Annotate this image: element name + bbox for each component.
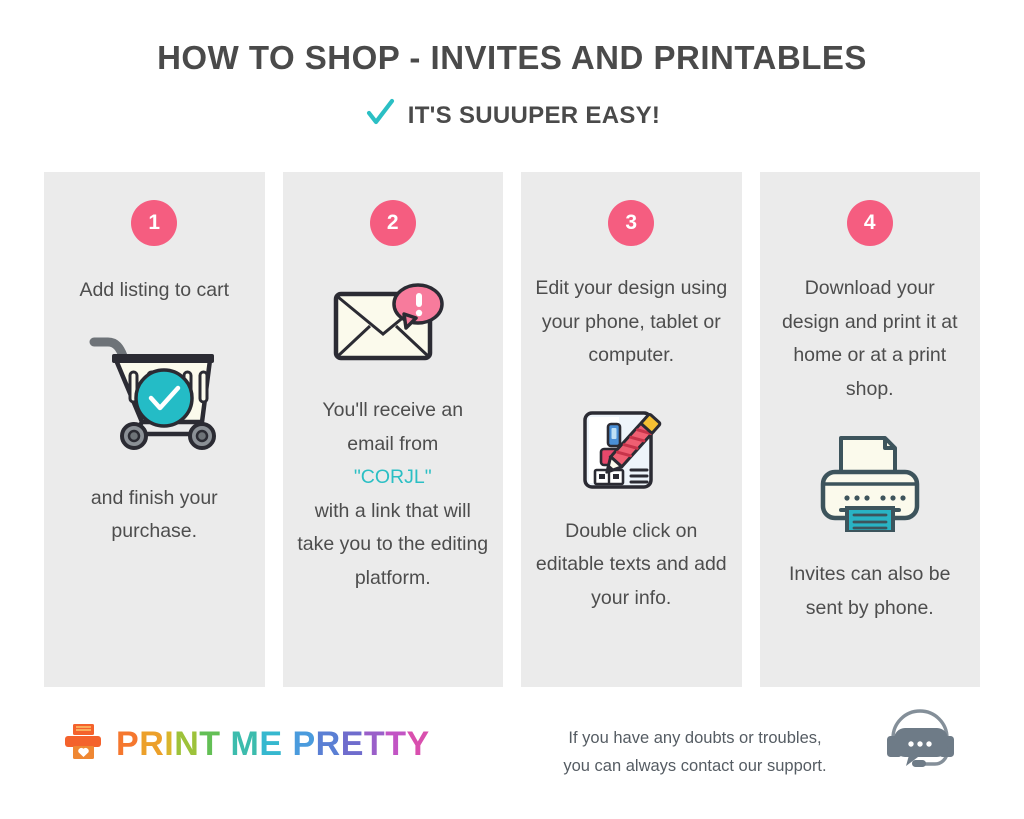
- support-line-1: If you have any doubts or troubles,: [520, 724, 870, 752]
- infographic-page: HOW TO SHOP - INVITES AND PRINTABLES IT'…: [0, 0, 1024, 819]
- subtitle-row: IT'S SUUUPER EASY!: [0, 97, 1024, 134]
- page-title: HOW TO SHOP - INVITES AND PRINTABLES: [0, 40, 1024, 76]
- step-card-4: 4 Download your design and print it at h…: [760, 172, 981, 687]
- support-line-2: you can always contact our support.: [520, 752, 870, 780]
- step-card-1: 1 Add listing to cart: [44, 172, 265, 687]
- step-number-badge-1: 1: [131, 200, 177, 246]
- step-text-2: You'll receive an email from "CORJL" wit…: [297, 394, 490, 595]
- printer-icon: [815, 428, 925, 532]
- step-number-badge-4: 4: [847, 200, 893, 246]
- headset-support-icon: [884, 708, 956, 779]
- printer-heart-logo-icon: [62, 720, 104, 767]
- support-text: If you have any doubts or troubles, you …: [520, 724, 870, 781]
- steps-container: 1 Add listing to cart: [44, 172, 980, 687]
- step-text-4-top: Download your design and print it at hom…: [774, 272, 967, 406]
- step-text-1-top: Add listing to cart: [79, 274, 229, 308]
- envelope-notification-icon: [332, 276, 454, 362]
- step-text-2-highlight: "CORJL": [354, 466, 432, 488]
- brand-logo[interactable]: PRINT ME PRETTY: [62, 720, 430, 767]
- step-number-badge-2: 2: [370, 200, 416, 246]
- check-icon: [364, 97, 396, 134]
- step-text-2-before: You'll receive an email from: [322, 399, 463, 455]
- step-number-badge-3: 3: [608, 200, 654, 246]
- step-text-1-bottom: and finish your purchase.: [58, 482, 251, 549]
- step-card-2: 2 You'll receive an email from: [283, 172, 504, 687]
- step-text-3-top: Edit your design using your phone, table…: [535, 272, 728, 373]
- edit-document-pencil-icon: [579, 397, 683, 493]
- footer: PRINT ME PRETTY If you have any doubts o…: [0, 700, 1024, 819]
- header: HOW TO SHOP - INVITES AND PRINTABLES IT'…: [0, 0, 1024, 134]
- step-text-4-bottom: Invites can also be sent by phone.: [774, 558, 967, 625]
- shopping-cart-icon: [86, 330, 222, 450]
- subtitle-text: IT'S SUUUPER EASY!: [408, 102, 660, 130]
- step-text-3-bottom: Double click on editable texts and add y…: [535, 515, 728, 616]
- brand-logo-text: PRINT ME PRETTY: [116, 727, 430, 761]
- step-card-3: 3 Edit your design using your phone, tab…: [521, 172, 742, 687]
- step-text-2-after: with a link that will take you to the ed…: [297, 500, 488, 589]
